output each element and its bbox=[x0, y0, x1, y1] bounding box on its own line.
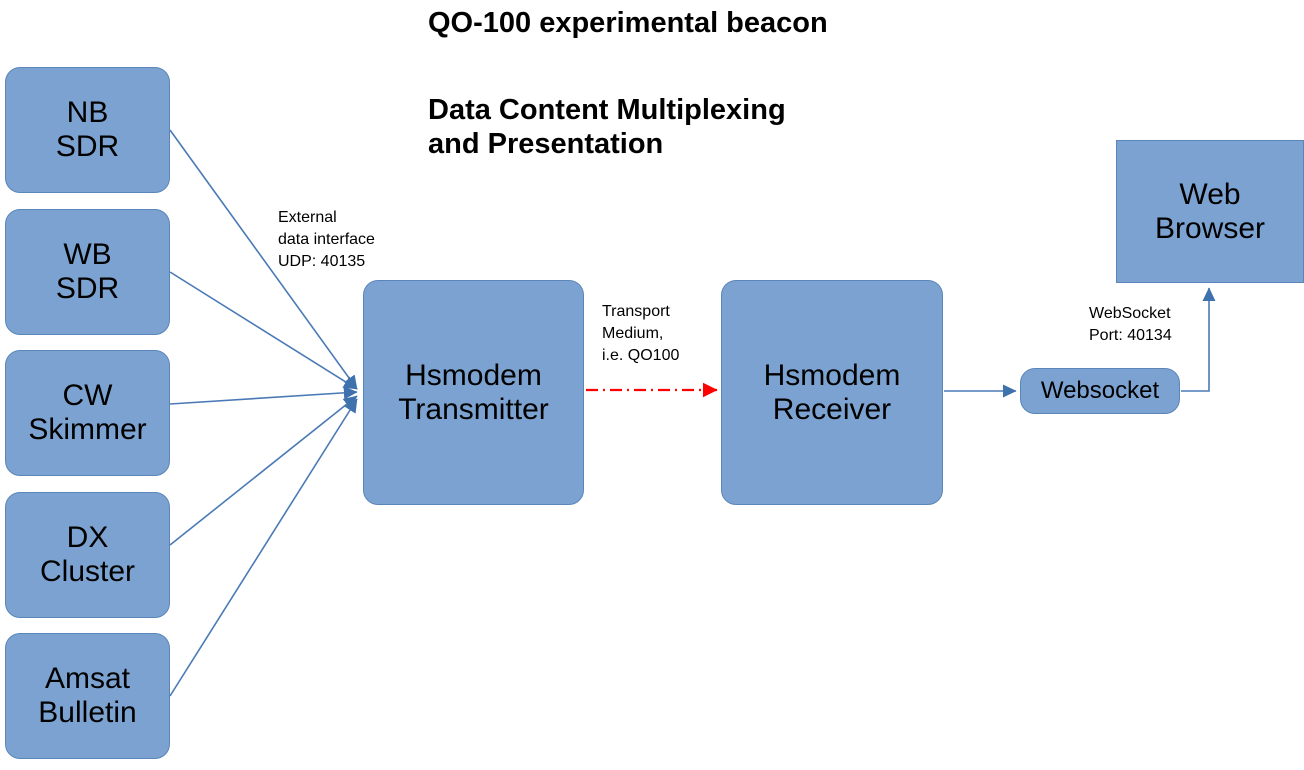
label-external-data-interface: External data interface UDP: 40135 bbox=[278, 207, 375, 273]
node-websocket[interactable]: Websocket bbox=[1020, 368, 1180, 414]
diagram-canvas: QO-100 experimental beacon Data Content … bbox=[0, 0, 1304, 770]
node-cw-skimmer[interactable]: CW Skimmer bbox=[5, 350, 170, 476]
node-nb-sdr[interactable]: NB SDR bbox=[5, 67, 170, 193]
connector-dx-cluster-to-transmitter bbox=[170, 396, 357, 545]
label-websocket-port: WebSocket Port: 40134 bbox=[1089, 303, 1172, 347]
node-amsat-bulletin[interactable]: Amsat Bulletin bbox=[5, 633, 170, 759]
page-subtitle: Data Content Multiplexing and Presentati… bbox=[428, 93, 786, 161]
connector-wb-sdr-to-transmitter bbox=[170, 272, 357, 389]
node-web-browser[interactable]: Web Browser bbox=[1116, 140, 1304, 283]
node-dx-cluster[interactable]: DX Cluster bbox=[5, 492, 170, 618]
connector-amsat-bulletin-to-transmitter bbox=[170, 399, 357, 696]
page-title: QO-100 experimental beacon bbox=[428, 6, 828, 40]
node-wb-sdr[interactable]: WB SDR bbox=[5, 209, 170, 335]
label-transport-medium: Transport Medium, i.e. QO100 bbox=[602, 301, 679, 367]
node-hsmodem-transmitter[interactable]: Hsmodem Transmitter bbox=[363, 280, 584, 505]
connector-cw-skimmer-to-transmitter bbox=[170, 392, 357, 404]
connector-websocket-to-web-browser bbox=[1181, 288, 1209, 391]
node-hsmodem-receiver[interactable]: Hsmodem Receiver bbox=[721, 280, 943, 505]
